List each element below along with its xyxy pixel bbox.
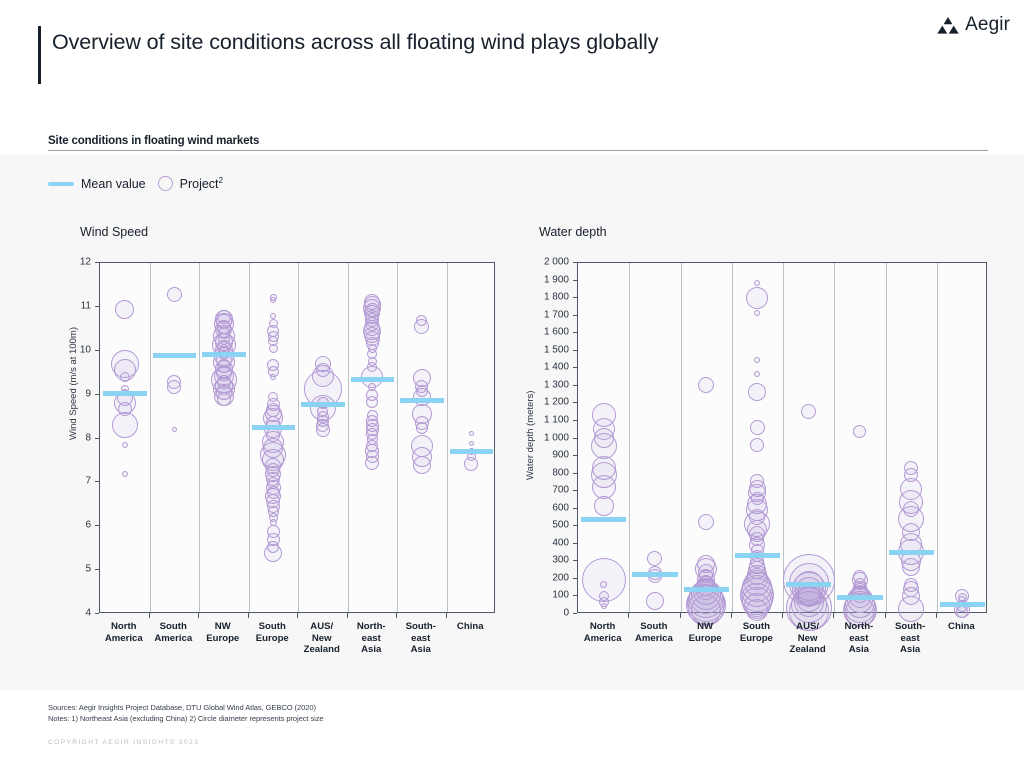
project-bubble bbox=[414, 319, 429, 334]
project-bubble bbox=[600, 581, 607, 588]
column-separator bbox=[348, 263, 349, 612]
footer-copyright: COPYRIGHT AEGIR INSIGHTS 2023 bbox=[48, 739, 199, 746]
chart-title-water-depth: Water depth bbox=[539, 225, 607, 239]
project-bubble bbox=[748, 383, 766, 401]
y-tick-mark bbox=[573, 490, 577, 491]
y-tick-mark bbox=[573, 280, 577, 281]
column-separator bbox=[629, 263, 630, 612]
project-bubble bbox=[366, 396, 378, 408]
y-tick-label: 8 bbox=[39, 432, 91, 443]
x-axis-category-label: China bbox=[446, 621, 496, 633]
column-separator bbox=[681, 263, 682, 612]
y-tick-mark bbox=[573, 473, 577, 474]
mean-value-line bbox=[153, 353, 197, 358]
x-tick-mark bbox=[248, 613, 249, 618]
y-tick-label: 900 bbox=[517, 450, 569, 461]
y-tick-mark bbox=[573, 543, 577, 544]
y-tick-label: 600 bbox=[517, 502, 569, 513]
project-bubble bbox=[754, 310, 760, 316]
y-tick-label: 1 600 bbox=[517, 327, 569, 338]
y-tick-label: 1 700 bbox=[517, 309, 569, 320]
y-tick-label: 0 bbox=[517, 608, 569, 619]
x-tick-mark bbox=[149, 613, 150, 618]
x-tick-mark bbox=[396, 613, 397, 618]
y-tick-mark bbox=[573, 262, 577, 263]
project-bubble bbox=[754, 280, 760, 286]
x-axis-category-label: North- east Asia bbox=[833, 621, 884, 656]
project-bubble bbox=[167, 380, 181, 394]
project-bubble bbox=[801, 404, 816, 419]
project-bubble bbox=[115, 300, 134, 319]
project-bubble bbox=[746, 599, 768, 621]
x-axis-category-label: NW Europe bbox=[198, 621, 248, 644]
y-tick-label: 1 500 bbox=[517, 344, 569, 355]
y-tick-label: 4 bbox=[39, 608, 91, 619]
project-bubble bbox=[746, 287, 768, 309]
mean-value-line bbox=[786, 582, 831, 587]
plot-area-wind-speed bbox=[99, 262, 495, 613]
x-axis-category-label: South- east Asia bbox=[885, 621, 936, 656]
y-tick-mark bbox=[95, 613, 99, 614]
column-separator bbox=[886, 263, 887, 612]
y-tick-label: 10 bbox=[39, 344, 91, 355]
x-tick-mark bbox=[628, 613, 629, 618]
x-tick-mark bbox=[936, 613, 937, 618]
mean-value-line bbox=[351, 377, 395, 382]
column-separator bbox=[447, 263, 448, 612]
column-separator bbox=[397, 263, 398, 612]
column-separator bbox=[249, 263, 250, 612]
y-tick-label: 200 bbox=[517, 572, 569, 583]
y-tick-label: 700 bbox=[517, 485, 569, 496]
y-tick-label: 7 bbox=[39, 476, 91, 487]
y-tick-mark bbox=[573, 350, 577, 351]
y-tick-label: 1 400 bbox=[517, 362, 569, 373]
y-tick-label: 1 000 bbox=[517, 432, 569, 443]
y-tick-mark bbox=[95, 262, 99, 263]
x-axis-category-label: North America bbox=[577, 621, 628, 644]
plot-area-water-depth bbox=[577, 262, 987, 613]
y-tick-mark bbox=[95, 350, 99, 351]
x-axis-category-label: North America bbox=[99, 621, 149, 644]
x-tick-mark bbox=[731, 613, 732, 618]
y-tick-label: 6 bbox=[39, 520, 91, 531]
chart-water-depth: Water depth Water depth (meters) 0100200… bbox=[512, 0, 1024, 768]
y-tick-mark bbox=[573, 525, 577, 526]
y-tick-mark bbox=[573, 385, 577, 386]
y-tick-label: 800 bbox=[517, 467, 569, 478]
project-bubble bbox=[594, 496, 614, 516]
footer-notes: Sources: Aegir Insights Project Database… bbox=[48, 703, 324, 724]
project-bubble bbox=[464, 457, 478, 471]
project-bubble bbox=[646, 592, 664, 610]
x-tick-mark bbox=[885, 613, 886, 618]
x-tick-mark bbox=[446, 613, 447, 618]
x-axis-category-label: North- east Asia bbox=[347, 621, 397, 656]
project-bubble bbox=[591, 433, 617, 459]
mean-value-line bbox=[202, 352, 246, 357]
chart-wind-speed: Wind Speed Wind Speed (m/s at 100m) 4567… bbox=[0, 0, 512, 768]
mean-value-line bbox=[581, 517, 626, 522]
y-tick-label: 1 800 bbox=[517, 292, 569, 303]
y-tick-mark bbox=[95, 525, 99, 526]
project-bubble bbox=[750, 438, 764, 452]
project-bubble bbox=[601, 603, 607, 609]
project-bubble bbox=[316, 423, 330, 437]
y-tick-mark bbox=[573, 455, 577, 456]
project-bubble bbox=[269, 344, 278, 353]
x-axis-category-label: AUS/ New Zealand bbox=[297, 621, 347, 656]
x-tick-mark bbox=[782, 613, 783, 618]
y-tick-label: 1 300 bbox=[517, 379, 569, 390]
y-tick-label: 1 100 bbox=[517, 414, 569, 425]
footer-sources: Sources: Aegir Insights Project Database… bbox=[48, 703, 324, 714]
column-separator bbox=[732, 263, 733, 612]
y-tick-mark bbox=[95, 481, 99, 482]
mean-value-line bbox=[940, 602, 985, 607]
slide-root: Overview of site conditions across all f… bbox=[0, 0, 1024, 768]
footer-notes-line: Notes: 1) Northeast Asia (excluding Chin… bbox=[48, 714, 324, 725]
project-bubble bbox=[853, 425, 866, 438]
mean-value-line bbox=[735, 553, 780, 558]
project-bubble bbox=[647, 551, 662, 566]
project-bubble bbox=[698, 514, 714, 530]
project-bubble bbox=[270, 297, 276, 303]
x-axis-category-label: South Europe bbox=[731, 621, 782, 644]
y-tick-label: 500 bbox=[517, 520, 569, 531]
x-tick-mark bbox=[680, 613, 681, 618]
y-tick-label: 100 bbox=[517, 590, 569, 601]
y-tick-label: 2 000 bbox=[517, 257, 569, 268]
mean-value-line bbox=[684, 587, 729, 592]
y-tick-mark bbox=[573, 578, 577, 579]
y-tick-label: 400 bbox=[517, 537, 569, 548]
y-tick-label: 5 bbox=[39, 564, 91, 575]
column-separator bbox=[298, 263, 299, 612]
x-tick-mark bbox=[833, 613, 834, 618]
y-tick-mark bbox=[95, 569, 99, 570]
project-bubble bbox=[754, 371, 760, 377]
project-bubble bbox=[416, 422, 428, 434]
project-bubble bbox=[217, 392, 231, 406]
x-tick-mark bbox=[347, 613, 348, 618]
project-bubble bbox=[122, 471, 128, 477]
y-tick-mark bbox=[573, 420, 577, 421]
y-tick-label: 9 bbox=[39, 388, 91, 399]
project-bubble bbox=[750, 420, 765, 435]
y-tick-label: 12 bbox=[39, 257, 91, 268]
y-tick-mark bbox=[573, 315, 577, 316]
x-tick-mark bbox=[198, 613, 199, 618]
y-tick-label: 11 bbox=[39, 300, 91, 311]
project-bubble bbox=[698, 377, 714, 393]
y-tick-mark bbox=[573, 508, 577, 509]
y-tick-label: 1 900 bbox=[517, 274, 569, 285]
mean-value-line bbox=[103, 391, 147, 396]
chart-title-wind-speed: Wind Speed bbox=[80, 225, 148, 239]
mean-value-line bbox=[837, 595, 882, 600]
project-bubble bbox=[167, 287, 182, 302]
x-axis-category-label: South- east Asia bbox=[396, 621, 446, 656]
column-separator bbox=[150, 263, 151, 612]
mean-value-line bbox=[301, 402, 345, 407]
x-axis-category-label: South Europe bbox=[248, 621, 298, 644]
column-separator bbox=[783, 263, 784, 612]
column-separator bbox=[199, 263, 200, 612]
x-axis-category-label: China bbox=[936, 621, 987, 633]
project-bubble bbox=[264, 544, 282, 562]
project-bubble bbox=[270, 313, 276, 319]
project-bubble bbox=[112, 412, 138, 438]
y-tick-mark bbox=[95, 438, 99, 439]
project-bubble bbox=[172, 427, 177, 432]
x-axis-category-label: NW Europe bbox=[680, 621, 731, 644]
y-tick-mark bbox=[573, 595, 577, 596]
y-tick-mark bbox=[573, 560, 577, 561]
project-bubble bbox=[469, 441, 474, 446]
project-bubble bbox=[365, 456, 379, 470]
y-tick-mark bbox=[95, 306, 99, 307]
y-tick-mark bbox=[573, 613, 577, 614]
y-tick-label: 300 bbox=[517, 555, 569, 566]
project-bubble bbox=[122, 442, 128, 448]
project-bubble bbox=[469, 431, 474, 436]
column-separator bbox=[834, 263, 835, 612]
project-bubble bbox=[902, 558, 920, 576]
project-bubble bbox=[413, 456, 431, 474]
mean-value-line bbox=[400, 398, 444, 403]
x-axis-category-label: AUS/ New Zealand bbox=[782, 621, 833, 656]
mean-value-line bbox=[252, 425, 296, 430]
project-bubble bbox=[754, 357, 760, 363]
mean-value-line bbox=[889, 550, 934, 555]
y-tick-mark bbox=[573, 332, 577, 333]
y-tick-mark bbox=[95, 394, 99, 395]
x-axis-category-label: South America bbox=[149, 621, 199, 644]
x-tick-mark bbox=[297, 613, 298, 618]
x-axis-category-label: South America bbox=[628, 621, 679, 644]
y-tick-mark bbox=[573, 297, 577, 298]
y-tick-label: 1 200 bbox=[517, 397, 569, 408]
mean-value-line bbox=[632, 572, 677, 577]
project-bubble bbox=[270, 374, 276, 380]
y-tick-mark bbox=[573, 438, 577, 439]
project-bubble bbox=[120, 372, 130, 382]
column-separator bbox=[937, 263, 938, 612]
mean-value-line bbox=[450, 449, 494, 454]
y-tick-mark bbox=[573, 402, 577, 403]
y-tick-mark bbox=[573, 367, 577, 368]
project-bubble bbox=[898, 596, 924, 622]
